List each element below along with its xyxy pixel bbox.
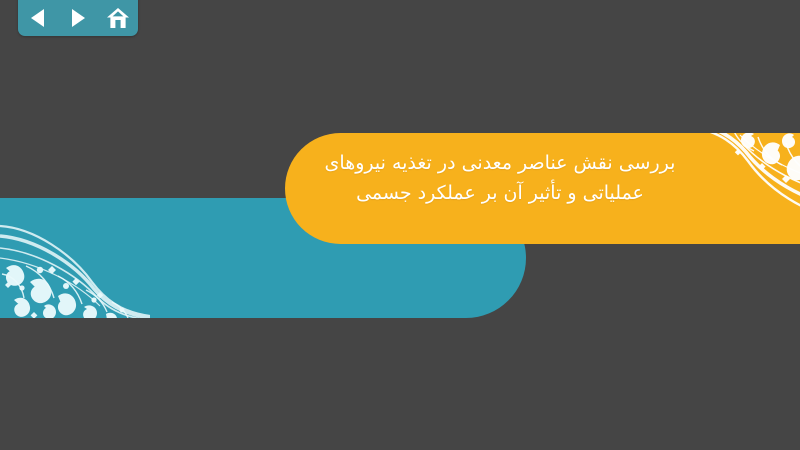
forward-button[interactable]	[63, 5, 93, 31]
home-icon	[107, 8, 129, 29]
home-button[interactable]	[103, 5, 133, 31]
slide-canvas: بررسی نقش عناصر معدنی در تغذیه نیروهای ع…	[0, 0, 800, 450]
slide-title-line-2: عملیاتی و تأثیر آن بر عملکرد جسمی	[300, 178, 700, 208]
slide-title: بررسی نقش عناصر معدنی در تغذیه نیروهای ع…	[300, 148, 700, 208]
navigation-bar	[18, 0, 138, 36]
back-triangle-icon	[29, 8, 47, 28]
slide-title-line-1: بررسی نقش عناصر معدنی در تغذیه نیروهای	[300, 148, 700, 178]
back-button[interactable]	[23, 5, 53, 31]
teal-arabesque-ornament	[0, 208, 150, 318]
forward-triangle-icon	[69, 8, 87, 28]
